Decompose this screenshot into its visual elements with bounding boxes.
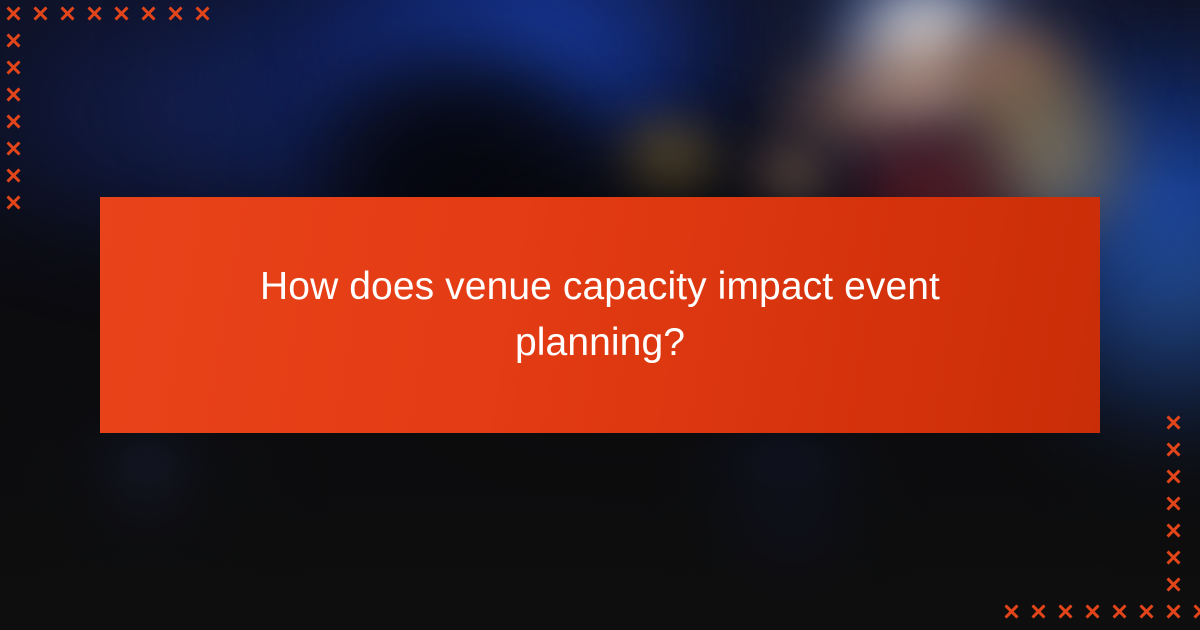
headline-text: How does venue capacity impact event pla… <box>260 259 940 371</box>
social-share-card: How does venue capacity impact event pla… <box>0 0 1200 630</box>
headline-banner: How does venue capacity impact event pla… <box>100 197 1100 433</box>
